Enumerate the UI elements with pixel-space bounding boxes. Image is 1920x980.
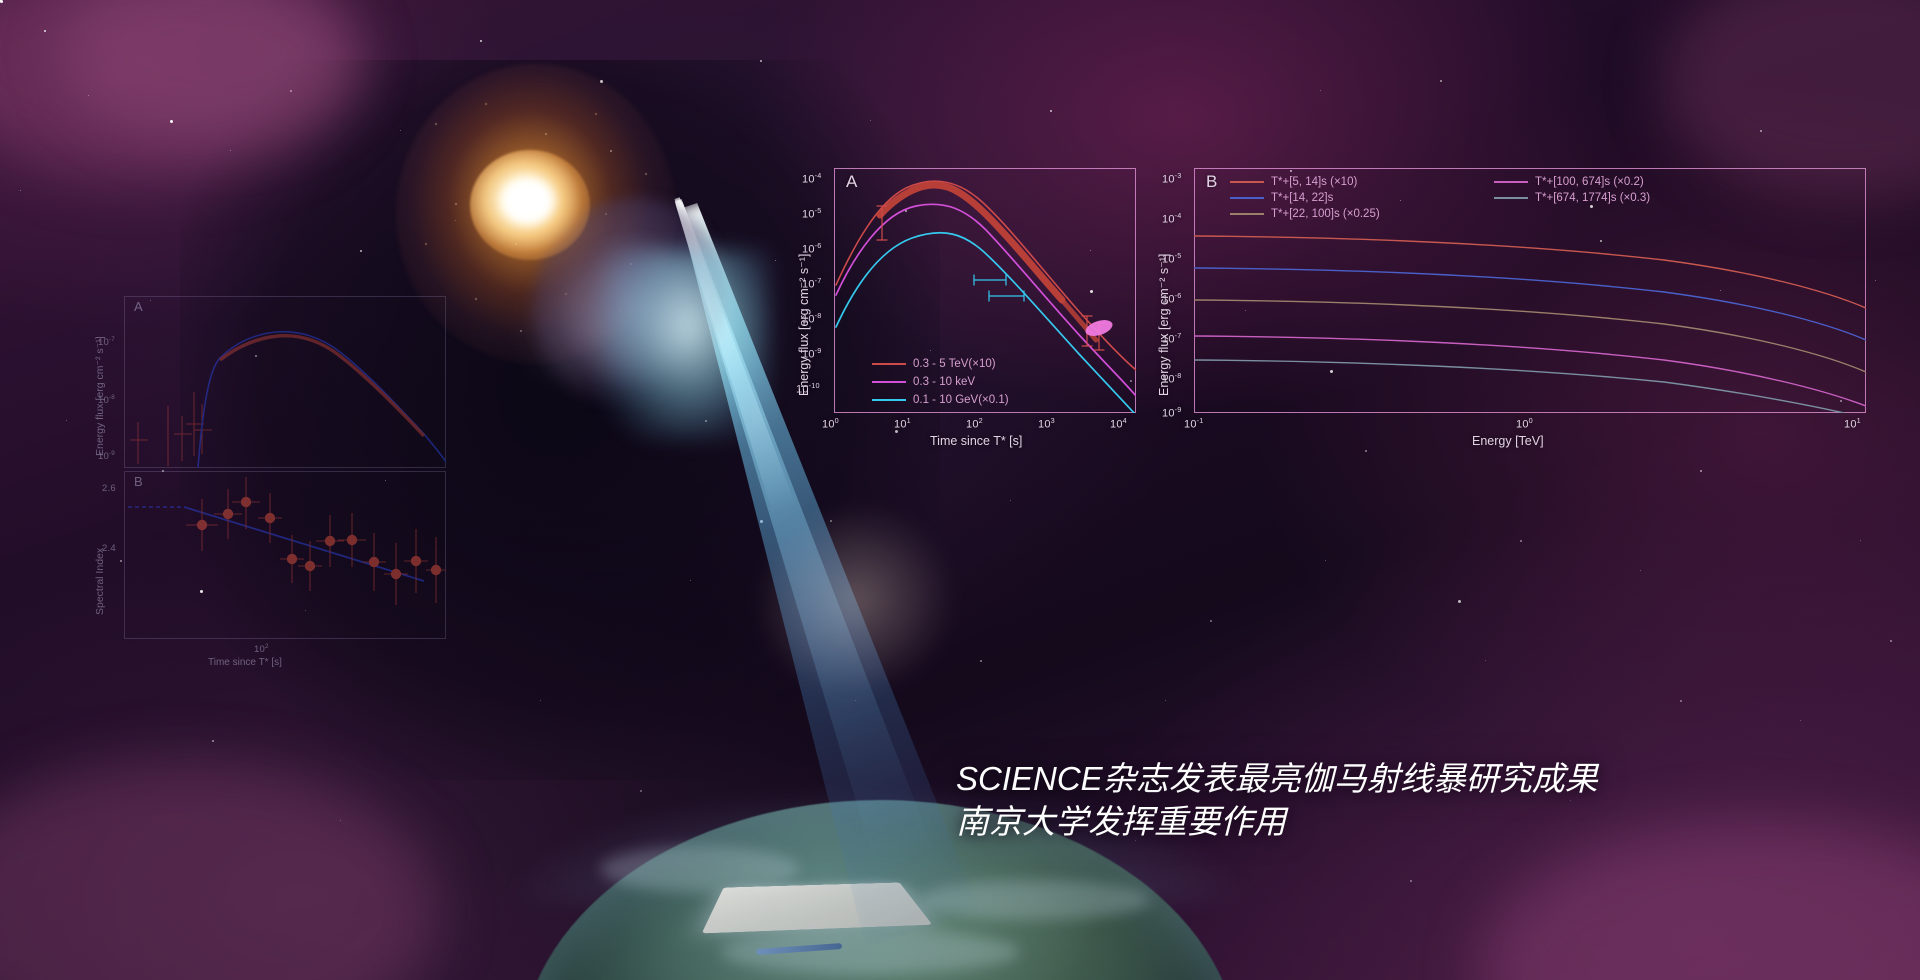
curve-t14-22 (1194, 268, 1866, 340)
x-tick-label: 102 (966, 416, 983, 431)
x-tick-label: 104 (1110, 416, 1127, 431)
left-b-trend-line (184, 507, 424, 581)
left-a-model-fit (198, 332, 446, 468)
chart-panel-right-b[interactable]: B 10-3 10-4 10-5 10-6 10-7 10-8 10-9 10-… (1172, 160, 1872, 450)
left-chart-group: A 10-7 10-8 10-9 Energy flux [erg cm⁻² s… (96, 290, 476, 680)
legend-swatch-gev (872, 399, 906, 401)
jet-neck-glow (600, 250, 770, 440)
legend-item-kev[interactable]: 0.3 - 10 keV (872, 376, 975, 388)
legend-label-kev: 0.3 - 10 keV (913, 376, 975, 388)
legend-item-tev[interactable]: 0.3 - 5 TeV(×10) (872, 358, 996, 370)
y-tick-label: 10-4 (1162, 211, 1182, 226)
x-tick-label: 100 (1516, 416, 1533, 431)
x-tick-label: 10-1 (1184, 416, 1204, 431)
x-tick-label: 102 (254, 643, 269, 655)
legend-label-t22-100: T*+[22, 100]s (×0.25) (1271, 208, 1380, 220)
y-tick-label: 10-5 (802, 206, 822, 221)
chart-panel-left-a[interactable]: A 10-7 10-8 10-9 Energy flux [erg cm⁻² s… (96, 290, 456, 475)
left-panel-b-plot (124, 471, 446, 639)
x-axis-title: Energy [TeV] (1472, 434, 1544, 448)
y-tick-label: 10-9 (1162, 405, 1182, 420)
legend-item-t14-22[interactable]: T*+[14, 22]s (1230, 192, 1333, 204)
left-b-data-points (197, 497, 441, 579)
headline-block: SCIENCE杂志发表最亮伽马射线暴研究成果 南京大学发挥重要作用 (956, 758, 1856, 844)
y-axis-title: Energy flux [erg cm⁻² s⁻¹] (94, 336, 106, 456)
legend-item-t100-674[interactable]: T*+[100, 674]s (×0.2) (1494, 176, 1644, 188)
left-a-data-band (220, 336, 424, 436)
x-tick-label: 101 (894, 416, 911, 431)
legend-swatch-t22-100 (1230, 213, 1264, 215)
legend-label-tev: 0.3 - 5 TeV(×10) (913, 358, 996, 370)
legend-swatch-t5-14 (1230, 181, 1264, 183)
y-axis-title: Energy flux [erg cm⁻² s⁻¹] (1156, 254, 1171, 396)
error-bars-tev (877, 206, 1104, 350)
x-axis-title: Time since T* [s] (930, 434, 1022, 448)
headline-line-1: SCIENCE杂志发表最亮伽马射线暴研究成果 (956, 758, 1856, 801)
y-axis-title: Energy flux [erg cm⁻² s⁻¹] (796, 254, 811, 396)
legend-label-t14-22: T*+[14, 22]s (1271, 192, 1333, 204)
headline-line-2: 南京大学发挥重要作用 (956, 801, 1856, 844)
legend-label-gev: 0.1 - 10 GeV(×0.1) (913, 394, 1009, 406)
legend-label-t100-674: T*+[100, 674]s (×0.2) (1535, 176, 1644, 188)
x-axis-title: Time since T* [s] (208, 657, 282, 668)
legend-item-t5-14[interactable]: T*+[5, 14]s (×10) (1230, 176, 1357, 188)
legend-swatch-t100-674 (1494, 181, 1528, 183)
legend-swatch-kev (872, 381, 906, 383)
poster-stage: A 10-4 10-5 10-6 10-7 10-8 10-9 10-10 10… (0, 0, 1920, 980)
error-bars-gev (974, 275, 1024, 301)
right-chart-group: A 10-4 10-5 10-6 10-7 10-8 10-9 10-10 10… (812, 160, 1912, 460)
x-tick-label: 101 (1844, 416, 1861, 431)
chart-panel-right-a[interactable]: A 10-4 10-5 10-6 10-7 10-8 10-9 10-10 10… (812, 160, 1142, 440)
curve-t5-14 (1194, 236, 1866, 308)
legend-item-t674-1774[interactable]: T*+[674, 1774]s (×0.3) (1494, 192, 1650, 204)
legend-swatch-tev (872, 363, 906, 365)
chart-panel-left-b[interactable]: B 2.6 2.4 102 Spectral Index Time since … (96, 465, 456, 665)
panel-b-curves (1194, 168, 1866, 413)
y-tick-label: 10-3 (1162, 171, 1182, 186)
left-panel-a-plot (124, 296, 446, 468)
grb-fireball-core (502, 178, 554, 224)
legend-item-gev[interactable]: 0.1 - 10 GeV(×0.1) (872, 394, 1009, 406)
legend-label-t674-1774: T*+[674, 1774]s (×0.3) (1535, 192, 1650, 204)
legend-swatch-t14-22 (1230, 197, 1264, 199)
x-tick-label: 103 (1038, 416, 1055, 431)
legend-item-t22-100[interactable]: T*+[22, 100]s (×0.25) (1230, 208, 1380, 220)
legend-label-t5-14: T*+[5, 14]s (×10) (1271, 176, 1357, 188)
x-tick-label: 100 (822, 416, 839, 431)
legend-swatch-t674-1774 (1494, 197, 1528, 199)
y-tick-label: 10-4 (802, 171, 822, 186)
curve-t674-1774 (1194, 360, 1866, 413)
y-tick-label: 2.6 (102, 483, 116, 494)
left-b-errorbars (186, 477, 446, 605)
y-axis-title: Spectral Index (94, 548, 106, 615)
